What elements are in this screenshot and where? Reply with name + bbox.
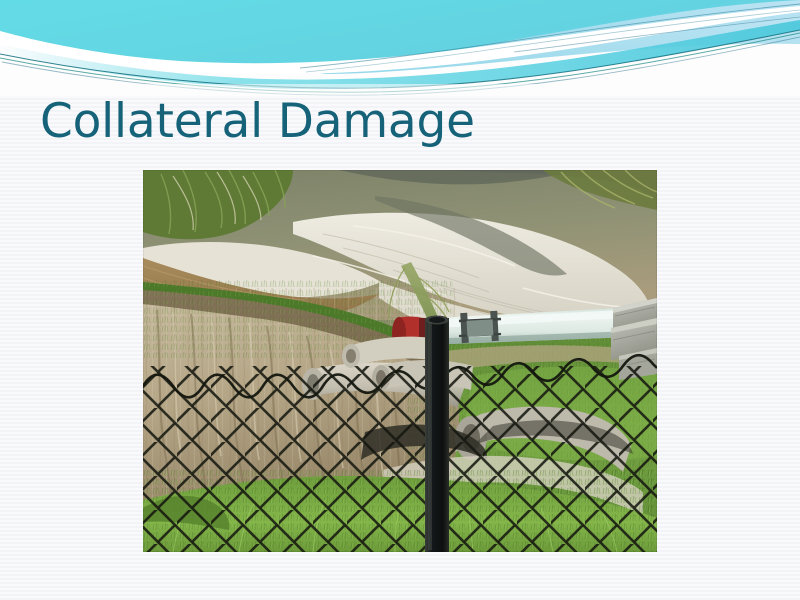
flood-erosion-damage-photograph — [143, 170, 657, 552]
page-title: Collateral Damage — [40, 93, 740, 151]
chain-link-fence — [143, 366, 657, 552]
fence-post-highlight — [428, 322, 432, 550]
header-wave-banner — [0, 0, 800, 96]
presentation-slide: Collateral Damage — [0, 0, 800, 600]
